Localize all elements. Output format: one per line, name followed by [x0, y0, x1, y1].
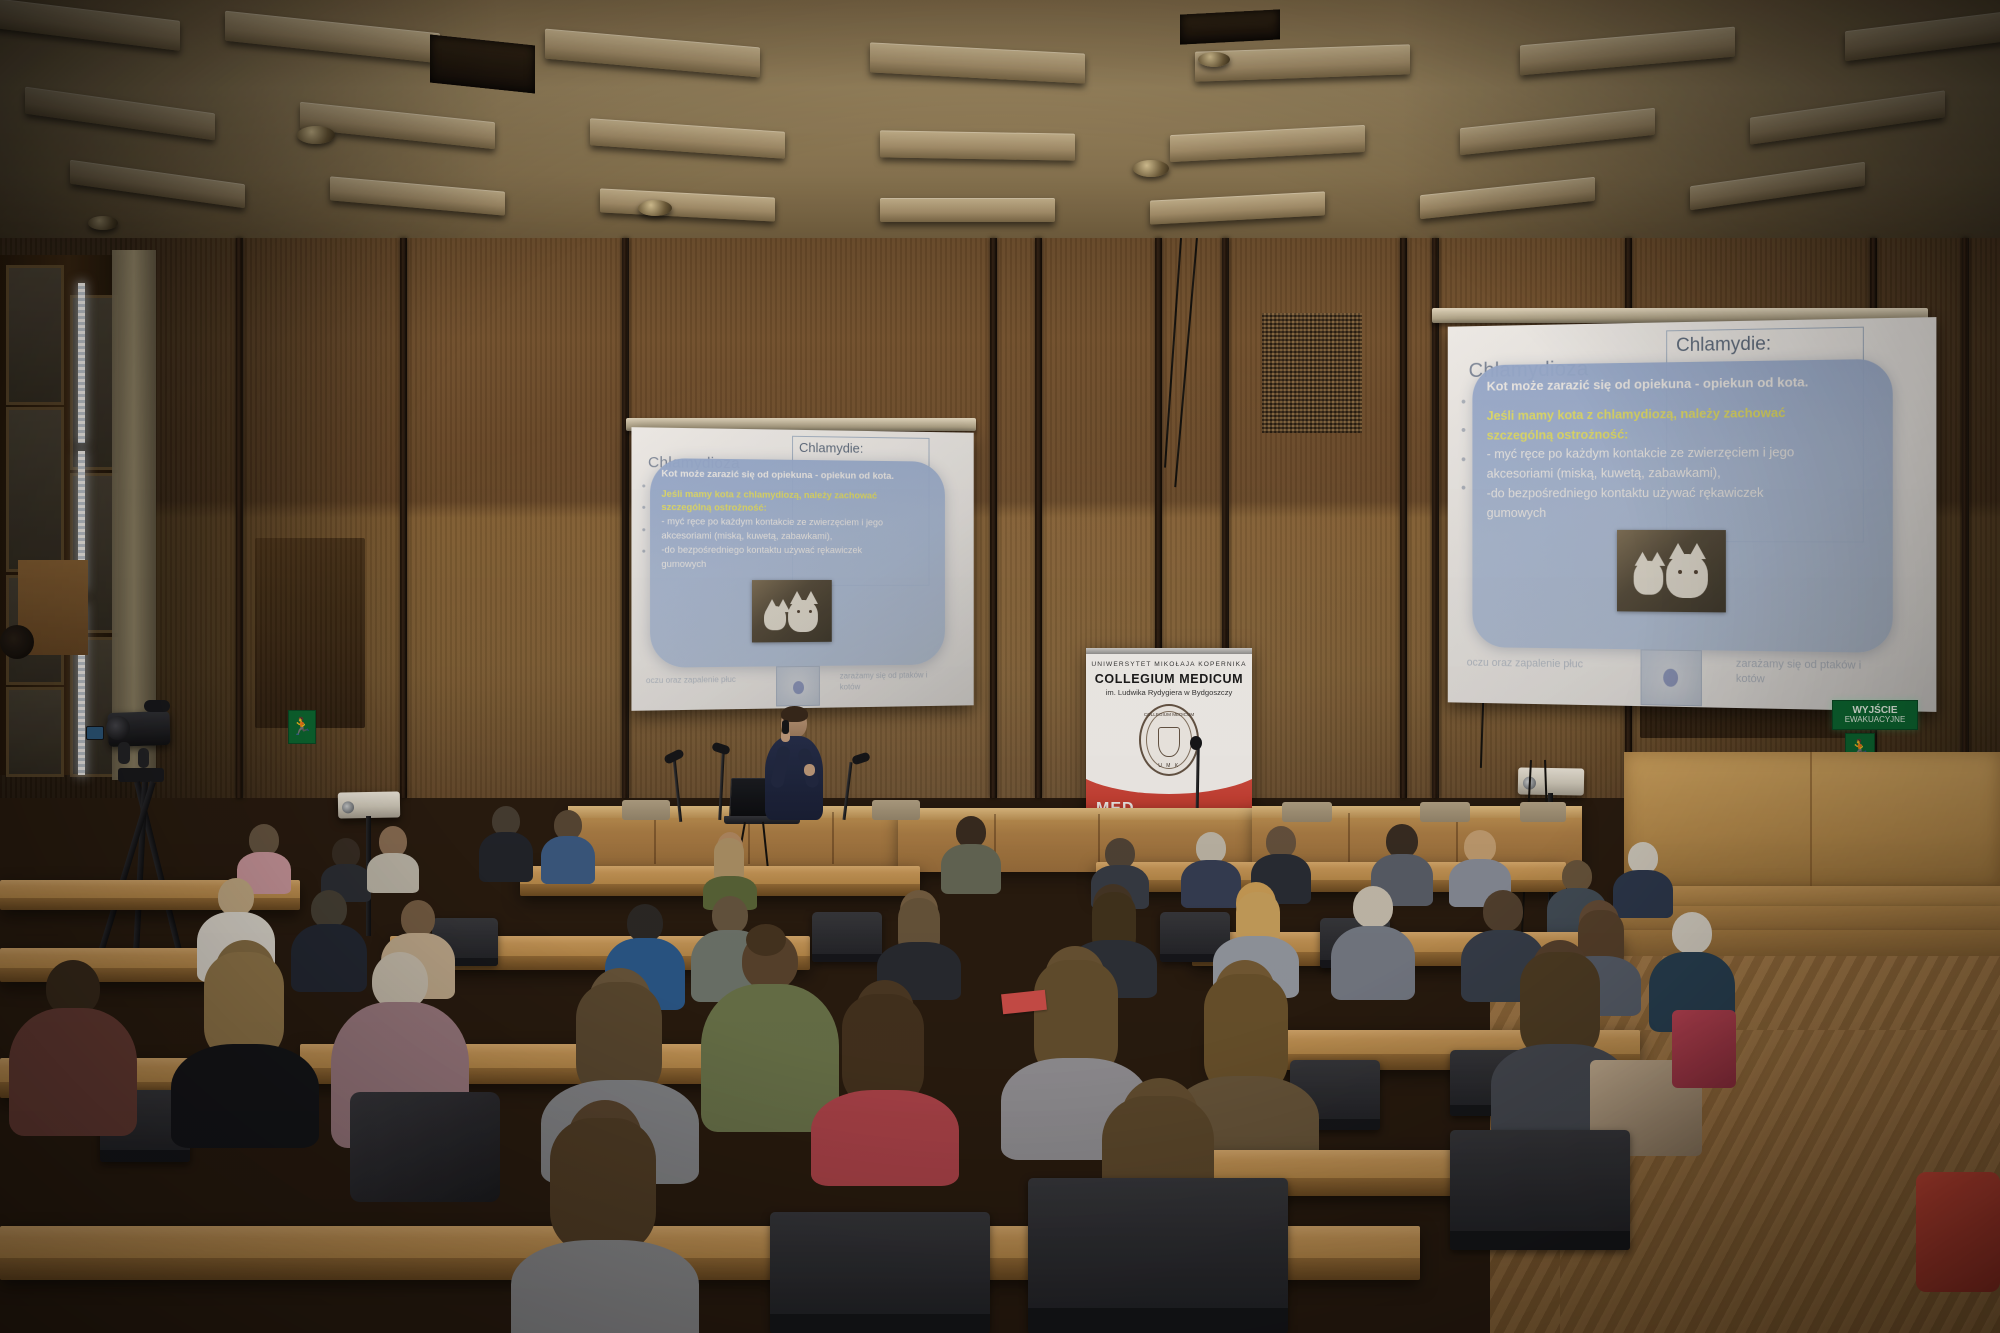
slide-footer-left: oczu oraz zapalenie płuc	[646, 675, 736, 685]
tripod-head	[118, 768, 164, 782]
ceiling-light-fixture	[1420, 177, 1595, 219]
projection-screen-left: Chlamydioza Chlamydie: • • • • Kot może …	[631, 427, 973, 711]
audience-member-front	[510, 1100, 700, 1333]
ceiling-light-fixture	[70, 160, 245, 209]
banner-patron-line: im. Ludwika Rydygiera w Bydgoszczy	[1086, 688, 1252, 697]
slide-cat-photo	[752, 580, 832, 642]
ceiling-light-fixture	[1460, 108, 1655, 155]
audience-chair-front	[770, 1212, 990, 1333]
ceiling-light-fixture	[1170, 125, 1365, 162]
slide-right: Chlamydioza Chlamydie: • • • • Kot może …	[1448, 317, 1937, 712]
callout-body-line2: akcesoriami (miską, kuwetą, zabawkami),	[1487, 462, 1878, 483]
callout-body-line4: gumowych	[661, 557, 934, 571]
handheld-microphone	[782, 720, 789, 734]
audience-member	[940, 816, 1002, 890]
callout-body-line1: - myć ręce po każdym kontakcie ze zwierz…	[661, 515, 934, 530]
running-person-glyph: 🏃	[291, 717, 312, 737]
audience-member	[320, 838, 372, 898]
wall-mullion	[400, 238, 407, 798]
audience-chair-front	[1028, 1178, 1288, 1333]
banner-top-rail	[1086, 648, 1252, 654]
audience-member	[366, 826, 420, 890]
microphone-capsule	[1190, 736, 1202, 750]
presenter	[762, 708, 826, 820]
emergency-exit-sign: WYJŚCIE EWAKUACYJNE	[1832, 700, 1918, 730]
ceiling-downlight	[1198, 52, 1230, 67]
ceiling-light-fixture	[880, 130, 1075, 160]
lecture-hall-photo: 🏃 Chlamydioza Chlamydie: • • • • Kot moż…	[0, 0, 2000, 1333]
projector-lens	[342, 801, 354, 813]
slide-micrograph	[1641, 649, 1702, 706]
exit-pictogram-icon-left: 🏃	[288, 710, 316, 744]
ceiling-light-fixture	[880, 198, 1055, 222]
callout-body-line4: gumowych	[1487, 502, 1878, 522]
side-wood-wall	[1624, 752, 2000, 888]
slide-callout-box: Kot może zarazić się od opiekuna - opiek…	[650, 458, 945, 668]
ceiling-vent	[430, 34, 535, 93]
callout-body-line3: -do bezpośredniego kontaktu używać rękaw…	[1487, 482, 1878, 503]
ceiling-light-fixture	[300, 102, 495, 149]
ceiling-vent	[1180, 9, 1280, 44]
stage-chair	[1282, 802, 1332, 822]
slide-micrograph	[776, 666, 820, 707]
seal-shield	[1158, 727, 1180, 757]
ceiling-downlight	[297, 126, 335, 144]
audience-member	[540, 810, 596, 880]
video-camera-mic-right	[138, 748, 149, 768]
callout-body-line1: - myć ręce po każdym kontakcie ze zwierz…	[1487, 442, 1878, 464]
wall-mullion	[990, 238, 997, 798]
wall-mullion	[1035, 238, 1042, 798]
ceiling-downlight	[1133, 160, 1169, 177]
wall-mullion	[236, 238, 243, 798]
stage-chair	[622, 800, 670, 820]
banner-faculty-name: COLLEGIUM MEDICUM	[1086, 672, 1252, 686]
window-pane	[6, 407, 64, 572]
video-camera-mic-left	[118, 742, 130, 764]
ceiling-light-fixture	[330, 176, 505, 215]
ceiling-light-fixture	[1150, 191, 1325, 224]
ceiling-light-fixture	[590, 118, 785, 159]
audience-member	[478, 806, 534, 878]
ceiling-light-fixture	[600, 188, 775, 221]
ceiling-light-fixture	[1750, 90, 1945, 144]
projector-left	[338, 791, 400, 818]
audience-member	[170, 940, 320, 1140]
callout-body-line2: akcesoriami (miską, kuwetą, zabawkami),	[661, 529, 934, 544]
ceiling-downlight	[88, 216, 118, 230]
hanging-cable	[1164, 238, 1182, 468]
callout-warning-line2: szczególną ostrożność:	[1487, 422, 1878, 445]
ceiling-light-fixture	[0, 0, 180, 51]
video-camera-flip-screen	[86, 726, 104, 740]
banner-university-name: UNIWERSYTET MIKOŁAJA KOPERNIKA	[1086, 661, 1252, 668]
red-bag	[1672, 1010, 1736, 1088]
wall-mullion	[1962, 238, 1969, 798]
hair-bun	[746, 924, 786, 956]
slide-footer-left: oczu oraz zapalenie płuc	[1467, 657, 1583, 671]
seal-text-top: COLLEGIUM MEDICUM	[1141, 712, 1197, 717]
stage-chair	[1520, 802, 1566, 822]
ceiling	[0, 0, 2000, 250]
backpack	[350, 1092, 500, 1202]
ceiling-downlight	[638, 200, 672, 216]
wall-mullion	[622, 238, 629, 798]
window-pane	[6, 265, 64, 405]
slide-background-bullets: • • • •	[1461, 395, 1466, 509]
audience-member	[1330, 886, 1416, 996]
wall-speaker-cone	[0, 625, 34, 659]
wall-mullion	[1400, 238, 1407, 798]
projection-screen-right: Chlamydioza Chlamydie: • • • • Kot może …	[1448, 317, 1937, 712]
audience-member	[810, 980, 960, 1180]
wall-door-left[interactable]	[255, 538, 365, 728]
hanging-cable	[1174, 238, 1198, 487]
tripod-leg	[95, 781, 156, 963]
ceiling-light-fixture	[1690, 162, 1865, 211]
ceiling-light-fixture	[1845, 5, 2000, 61]
video-camera-handle	[144, 700, 170, 712]
audience-chair	[1450, 1130, 1630, 1250]
slide-footer-right: zarażamy się od ptaków i kotów	[1736, 657, 1861, 689]
ceiling-light-fixture	[1195, 44, 1410, 82]
slide-footer-right: zarażamy się od ptaków i kotów	[840, 671, 928, 694]
seal-text-bottom: U M K	[1141, 763, 1197, 769]
ceiling-light-fixture	[1520, 27, 1735, 76]
long-hair	[550, 1118, 656, 1254]
left-window-wall	[0, 255, 125, 775]
wall-acoustic-grille	[1262, 313, 1362, 433]
presenter-hand	[804, 764, 815, 776]
callout-body-line3: -do bezpośredniego kontaktu używać rękaw…	[661, 543, 934, 557]
audience-member	[8, 960, 138, 1130]
window-light-strip	[78, 283, 85, 443]
ceiling-light-fixture	[25, 87, 215, 141]
audience-member-child	[700, 832, 760, 906]
ceiling-light-fixture	[870, 42, 1085, 83]
video-camera-lens	[106, 716, 130, 740]
slide-background-bullets: • • • •	[642, 480, 646, 567]
red-jacket-on-chair	[1916, 1172, 2000, 1292]
slide-cat-photo	[1617, 530, 1726, 613]
slide-left: Chlamydioza Chlamydie: • • • • Kot może …	[631, 427, 973, 711]
ceiling-light-fixture	[225, 11, 440, 64]
slide-callout-box: Kot może zarazić się od opiekuna - opiek…	[1472, 359, 1892, 653]
stage-chair	[1420, 802, 1470, 822]
ceiling-light-fixture	[545, 29, 760, 78]
stage-chair	[872, 800, 920, 820]
window-pane	[6, 687, 64, 777]
exit-sign-line2: EWAKUACYJNE	[1845, 716, 1906, 724]
